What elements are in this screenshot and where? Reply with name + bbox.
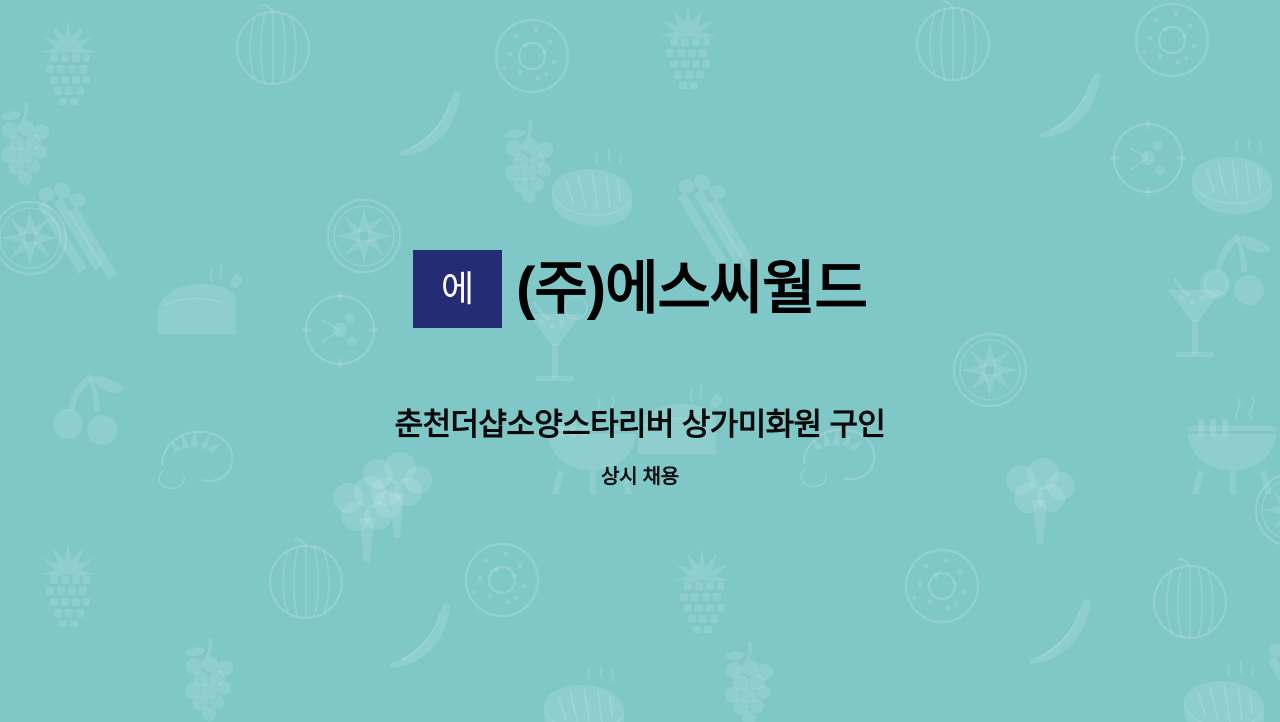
job-posting-banner: 에 (주)에스씨월드 춘천더샵소양스타리버 상가미화원 구인 상시 채용: [0, 0, 1280, 722]
company-logo-badge: 에: [413, 250, 502, 328]
company-logo-initial: 에: [441, 271, 474, 307]
job-posting-subtitle: 상시 채용: [0, 464, 1280, 490]
company-name: (주)에스씨월드: [516, 258, 867, 321]
job-posting-title: 춘천더샵소양스타리버 상가미화원 구인: [0, 406, 1280, 445]
banner-content: 에 (주)에스씨월드 춘천더샵소양스타리버 상가미화원 구인 상시 채용: [0, 0, 1280, 722]
company-header: 에 (주)에스씨월드: [0, 250, 1280, 328]
